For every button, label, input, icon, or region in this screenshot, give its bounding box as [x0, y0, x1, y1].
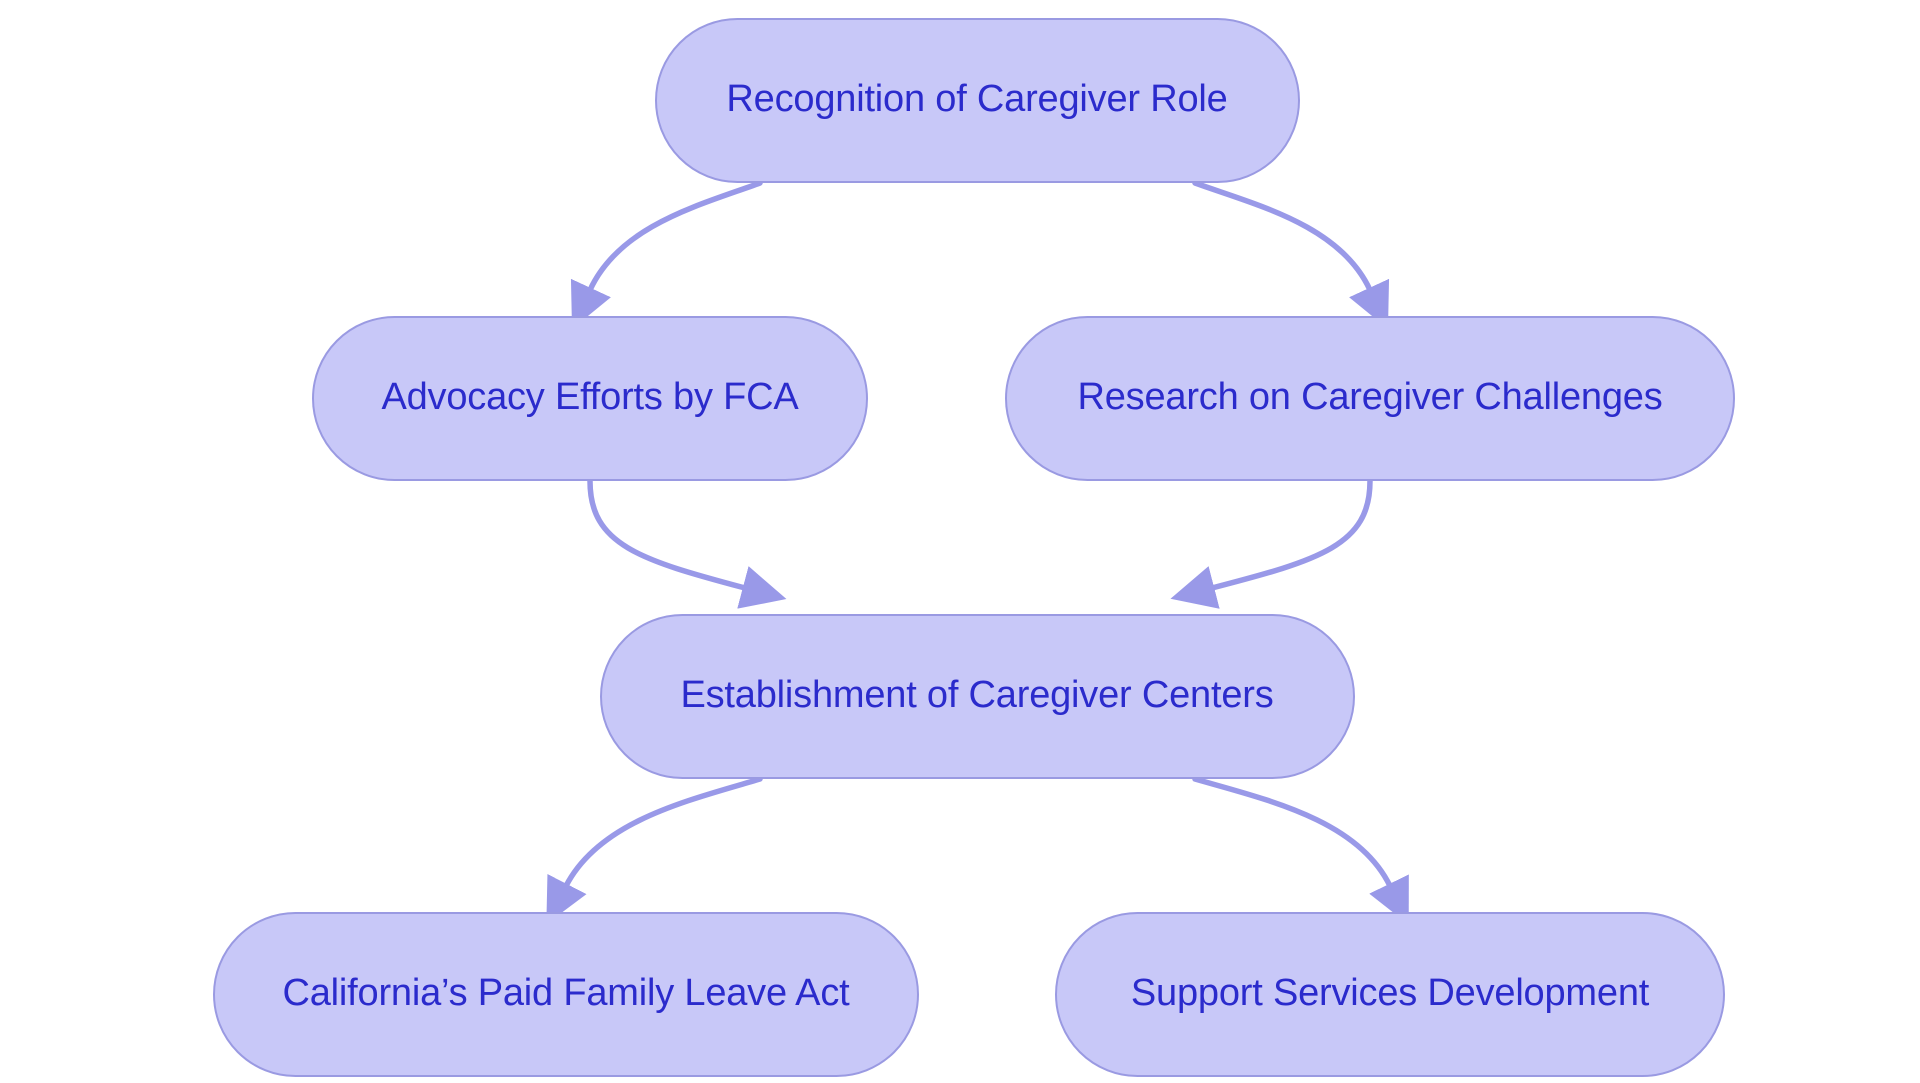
flowchart-node-recognition-of-caregiver-role[interactable]: Recognition of Caregiver Role: [655, 18, 1300, 183]
flowchart-node-research-on-caregiver-challenges[interactable]: Research on Caregiver Challenges: [1005, 316, 1735, 481]
node-label: California’s Paid Family Leave Act: [283, 973, 850, 1015]
node-label: Advocacy Efforts by FCA: [381, 377, 798, 419]
node-label: Recognition of Caregiver Role: [726, 79, 1227, 121]
flowchart-node-support-services-development[interactable]: Support Services Development: [1055, 912, 1725, 1077]
edge-n4-n6: [1195, 779, 1390, 886]
edge-n2-n4: [590, 481, 745, 588]
edge-n1-n2: [590, 183, 760, 290]
edge-n4-n5: [566, 779, 760, 886]
node-label: Establishment of Caregiver Centers: [680, 675, 1273, 717]
flowchart-node-californias-paid-family-leave-act[interactable]: California’s Paid Family Leave Act: [213, 912, 919, 1077]
flowchart-node-establishment-of-caregiver-centers[interactable]: Establishment of Caregiver Centers: [600, 614, 1355, 779]
edge-n3-n4: [1212, 481, 1370, 588]
flowchart-node-advocacy-efforts-by-fca[interactable]: Advocacy Efforts by FCA: [312, 316, 868, 481]
flowchart-canvas: Recognition of Caregiver Role Advocacy E…: [0, 0, 1920, 1083]
node-label: Support Services Development: [1131, 973, 1649, 1015]
edge-n1-n3: [1195, 183, 1370, 290]
node-label: Research on Caregiver Challenges: [1077, 377, 1662, 419]
